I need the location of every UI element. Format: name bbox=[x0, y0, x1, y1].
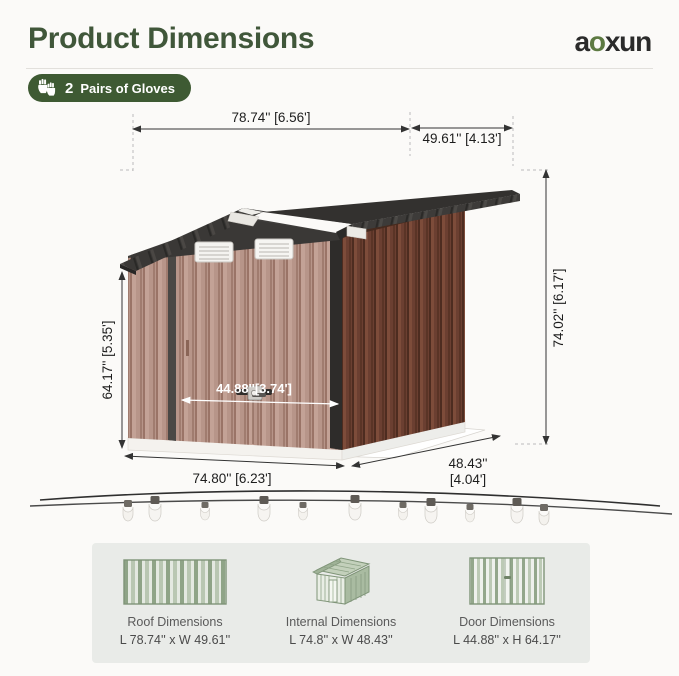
card-title: Door Dimensions bbox=[459, 615, 555, 629]
badge-count: 2 bbox=[65, 80, 73, 97]
card-door-dimensions: Door Dimensions L 44.88'' x H 64.17'' bbox=[424, 543, 590, 663]
shed-diagram-stage: 78.74'' [6.56'] 49.61'' [4.13'] bbox=[0, 108, 679, 498]
badge-label: Pairs of Gloves bbox=[80, 81, 175, 96]
card-title: Internal Dimensions bbox=[286, 615, 396, 629]
page-title: Product Dimensions bbox=[28, 22, 314, 56]
header: Product Dimensions aoxun 2 Pairs of Glov… bbox=[0, 0, 679, 112]
string-lights-decoration bbox=[0, 480, 679, 542]
card-spec: L 78.74'' x W 49.61'' bbox=[120, 633, 231, 647]
shed-3d-icon bbox=[305, 554, 377, 606]
card-title: Roof Dimensions bbox=[127, 615, 222, 629]
roof-panel-icon bbox=[122, 554, 228, 606]
door-hinge-upper bbox=[186, 340, 189, 356]
shed-side-wall bbox=[342, 204, 465, 450]
string-lights-svg bbox=[0, 480, 679, 542]
dim-door-width-label: 44.88''[3.74'] bbox=[216, 381, 292, 396]
door-jamb-left bbox=[168, 252, 176, 441]
card-roof-dimensions: Roof Dimensions L 78.74'' x W 49.61'' bbox=[92, 543, 258, 663]
dim-peak-height-label: 74.02'' [6.17'] bbox=[551, 268, 566, 347]
gloves-icon bbox=[36, 78, 58, 98]
double-door-icon bbox=[468, 554, 546, 606]
dim-wall-height: 64.17'' [5.35'] bbox=[100, 272, 122, 448]
roof-vent-right bbox=[255, 239, 293, 259]
dim-roof-length-label: 78.74'' [6.56'] bbox=[231, 110, 310, 125]
card-internal-dimensions: Internal Dimensions L 74.8'' x W 48.43'' bbox=[258, 543, 424, 663]
dim-roof-width: 49.61'' [4.13'] bbox=[412, 128, 512, 146]
gloves-badge: 2 Pairs of Gloves bbox=[28, 74, 191, 102]
light-bulbs bbox=[123, 495, 549, 525]
roof-vent-left bbox=[195, 242, 233, 262]
header-divider bbox=[26, 68, 653, 69]
brand-logo: aoxun bbox=[575, 26, 651, 58]
dim-peak-height: 74.02'' [6.17'] bbox=[546, 170, 566, 444]
dim-wall-height-label: 64.17'' [5.35'] bbox=[100, 320, 115, 399]
card-spec: L 74.8'' x W 48.43'' bbox=[289, 633, 393, 647]
logo-letter-o: o bbox=[589, 26, 605, 57]
light-wire-upper bbox=[40, 491, 660, 506]
dim-base-width-label-1: 48.43'' bbox=[449, 456, 488, 471]
shed-front-wall bbox=[128, 234, 342, 450]
logo-letters-xun: xun bbox=[605, 26, 651, 57]
dim-roof-width-label: 49.61'' [4.13'] bbox=[422, 131, 501, 146]
shed-dimension-svg: 78.74'' [6.56'] 49.61'' [4.13'] bbox=[0, 108, 679, 498]
dimension-summary-cards: Roof Dimensions L 78.74'' x W 49.61'' bbox=[92, 543, 590, 663]
dim-roof-length: 78.74'' [6.56'] bbox=[133, 110, 409, 129]
logo-letter-a: a bbox=[575, 26, 589, 57]
door-jamb-right bbox=[330, 234, 342, 450]
product-dimensions-infographic: Product Dimensions aoxun 2 Pairs of Glov… bbox=[0, 0, 679, 676]
card-spec: L 44.88'' x H 64.17'' bbox=[453, 633, 561, 647]
